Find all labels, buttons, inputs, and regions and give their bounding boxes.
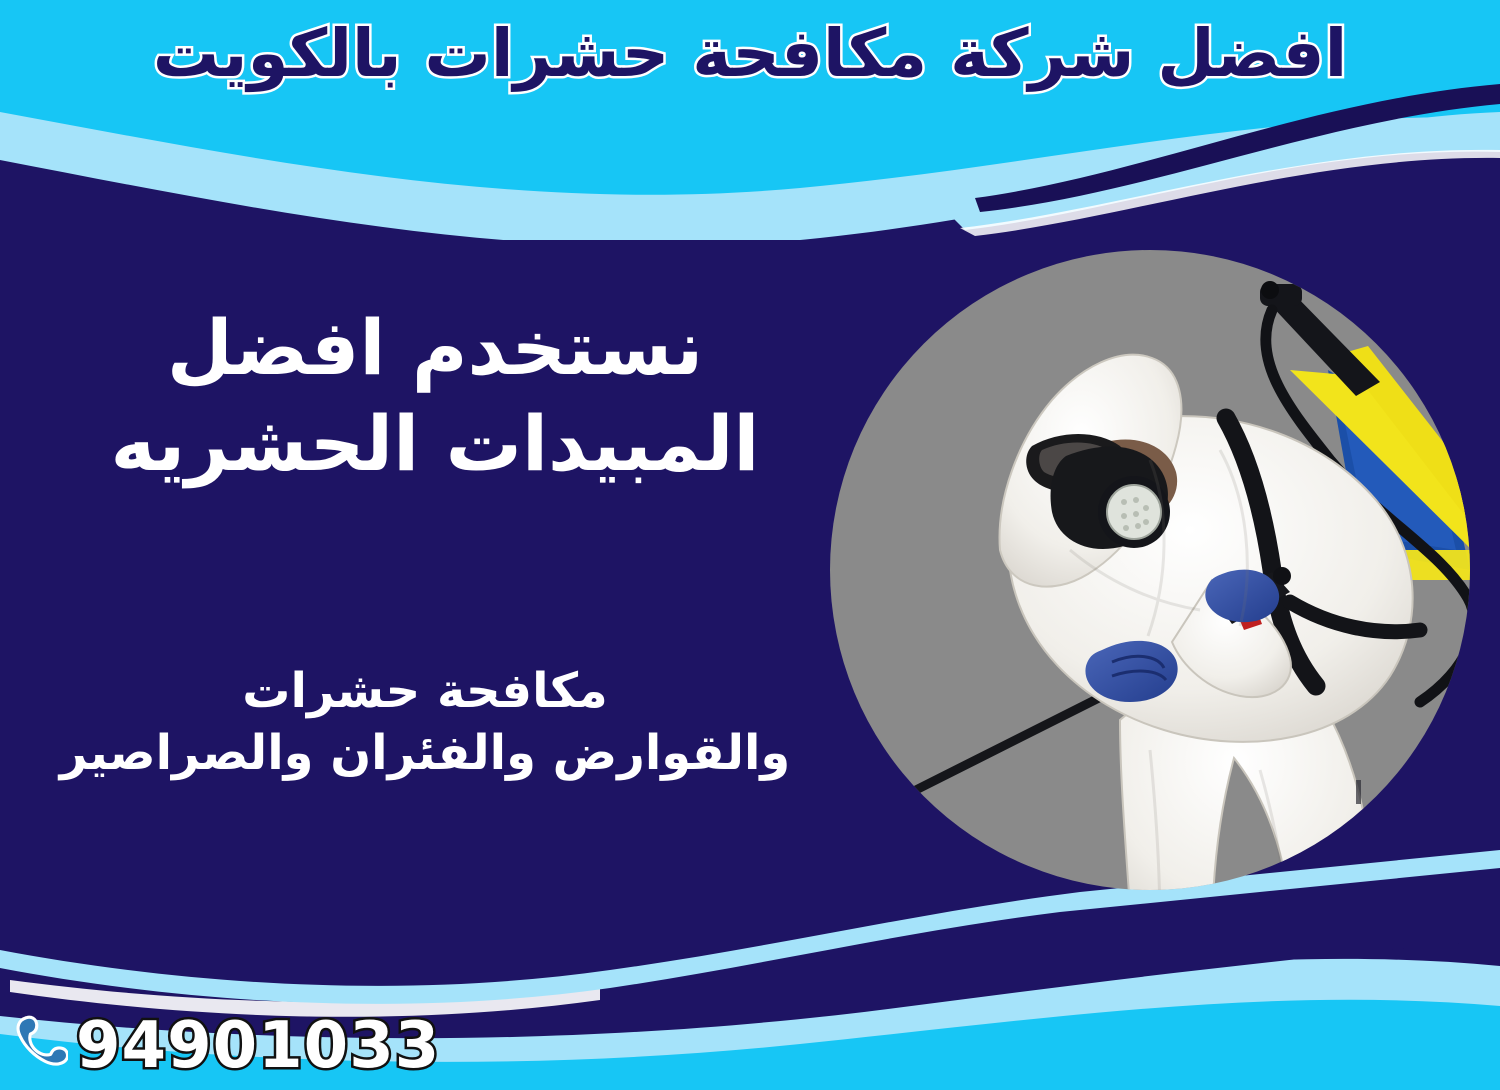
- pest-control-worker-photo: [820, 250, 1500, 950]
- contact-phone-block[interactable]: 94901033: [14, 1006, 440, 1086]
- sub-headline: مكافحة حشرات والقوارض والفئران والصراصير: [45, 660, 805, 785]
- headline-line-2: المبيدات الحشريه: [55, 396, 815, 492]
- banner-header: افضل شركة مكافحة حشرات بالكويت: [0, 6, 1500, 102]
- phone-handset-icon[interactable]: [14, 1013, 68, 1079]
- shoe-cover-right: [1205, 912, 1288, 950]
- main-headline: نستخدم افضل المبيدات الحشريه: [55, 300, 815, 492]
- subheadline-line-1: مكافحة حشرات: [45, 660, 805, 722]
- subheadline-line-2: والقوارض والفئران والصراصير: [45, 722, 805, 784]
- suit-mark: [1356, 780, 1361, 804]
- headline-line-1: نستخدم افضل: [55, 300, 815, 396]
- pest-control-banner: افضل شركة مكافحة حشرات بالكويت نستخدم اف…: [0, 0, 1500, 1090]
- phone-number-text[interactable]: 94901033: [76, 1014, 440, 1078]
- spray-wand-nozzle-tip: [878, 799, 900, 810]
- header-title-text: افضل شركة مكافحة حشرات بالكويت: [153, 21, 1347, 87]
- shoe-cover-left: [1102, 903, 1193, 948]
